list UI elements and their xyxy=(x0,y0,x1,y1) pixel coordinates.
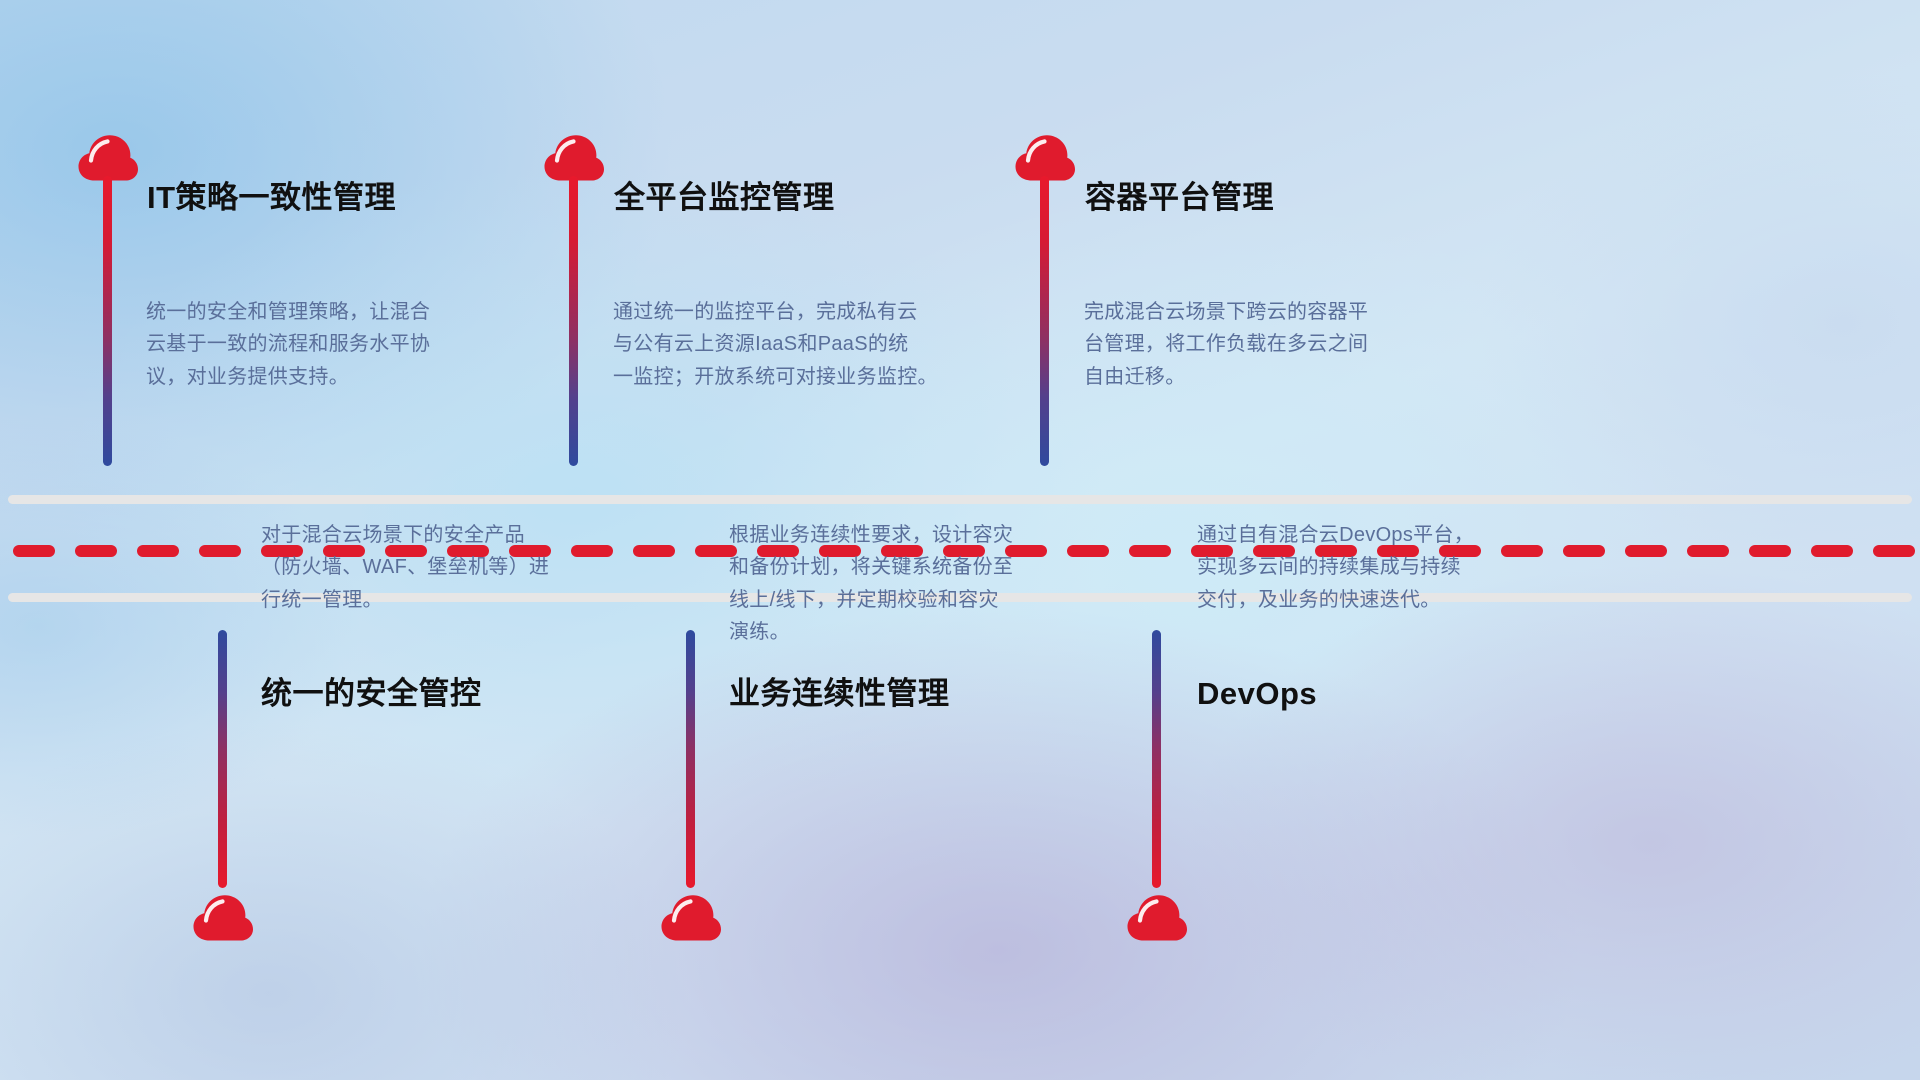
cloud-icon xyxy=(543,133,605,181)
milestone-heading: 统一的安全管控 xyxy=(261,675,482,712)
body-line: 行统一管理。 xyxy=(261,584,549,616)
body-line: 云基于一致的流程和服务水平协 xyxy=(146,328,430,360)
body-line: 对于混合云场景下的安全产品 xyxy=(261,519,549,551)
cloud-icon xyxy=(1126,893,1188,941)
diagram-stage: IT策略一致性管理 统一的安全和管理策略，让混合 云基于一致的流程和服务水平协 … xyxy=(0,0,1920,1080)
milestone-body: 对于混合云场景下的安全产品 （防火墙、WAF、堡垒机等）进 行统一管理。 xyxy=(261,519,549,616)
divider-dash xyxy=(137,545,179,557)
divider-dash xyxy=(571,545,613,557)
divider-dash xyxy=(633,545,675,557)
cloud-icon xyxy=(1014,133,1076,181)
milestone-heading: IT策略一致性管理 xyxy=(147,179,396,216)
divider-dash xyxy=(75,545,117,557)
milestone-body: 完成混合云场景下跨云的容器平 台管理，将工作负载在多云之间 自由迁移。 xyxy=(1084,296,1368,393)
divider-dash xyxy=(1067,545,1109,557)
timeline-stem xyxy=(686,630,695,888)
milestone-body: 通过自有混合云DevOps平台， 实现多云间的持续集成与持续 交付，及业务的快速… xyxy=(1197,519,1474,616)
milestone-body: 根据业务连续性要求，设计容灾 和备份计划，将关键系统备份至 线上/线下，并定期校… xyxy=(729,519,1013,649)
cloud-icon xyxy=(660,893,722,941)
body-line: 台管理，将工作负载在多云之间 xyxy=(1084,328,1368,360)
divider-rail-top xyxy=(8,495,1912,504)
body-line: 交付，及业务的快速迭代。 xyxy=(1197,584,1474,616)
body-line: 根据业务连续性要求，设计容灾 xyxy=(729,519,1013,551)
cloud-icon xyxy=(77,133,139,181)
body-line: 自由迁移。 xyxy=(1084,361,1368,393)
body-line: 议，对业务提供支持。 xyxy=(146,361,430,393)
timeline-stem xyxy=(1040,176,1049,466)
divider-dash xyxy=(1501,545,1543,557)
divider-dash xyxy=(1687,545,1729,557)
body-line: 线上/线下，并定期校验和容灾 xyxy=(729,584,1013,616)
body-line: 一监控；开放系统可对接业务监控。 xyxy=(613,361,938,393)
divider-dash xyxy=(1563,545,1605,557)
milestone-heading: DevOps xyxy=(1197,675,1317,712)
body-line: 演练。 xyxy=(729,616,1013,648)
milestone-heading: 容器平台管理 xyxy=(1085,179,1274,216)
milestone-heading: 业务连续性管理 xyxy=(729,675,950,712)
body-line: 通过自有混合云DevOps平台， xyxy=(1197,519,1474,551)
body-line: 实现多云间的持续集成与持续 xyxy=(1197,551,1474,583)
body-line: 统一的安全和管理策略，让混合 xyxy=(146,296,430,328)
divider-dash xyxy=(199,545,241,557)
milestone-body: 通过统一的监控平台，完成私有云 与公有云上资源IaaS和PaaS的统 一监控；开… xyxy=(613,296,938,393)
milestone-body: 统一的安全和管理策略，让混合 云基于一致的流程和服务水平协 议，对业务提供支持。 xyxy=(146,296,430,393)
timeline-stem xyxy=(1152,630,1161,888)
divider-dash xyxy=(1811,545,1853,557)
timeline-stem xyxy=(569,176,578,466)
milestone-heading: 全平台监控管理 xyxy=(614,179,835,216)
divider-dash xyxy=(1625,545,1667,557)
body-line: 通过统一的监控平台，完成私有云 xyxy=(613,296,938,328)
cloud-icon xyxy=(192,893,254,941)
body-line: 和备份计划，将关键系统备份至 xyxy=(729,551,1013,583)
body-line: （防火墙、WAF、堡垒机等）进 xyxy=(261,551,549,583)
timeline-stem xyxy=(218,630,227,888)
body-line: 与公有云上资源IaaS和PaaS的统 xyxy=(613,328,938,360)
divider-dash xyxy=(1873,545,1915,557)
divider-dash xyxy=(13,545,55,557)
divider-dash xyxy=(1129,545,1171,557)
body-line: 完成混合云场景下跨云的容器平 xyxy=(1084,296,1368,328)
divider-dash xyxy=(1749,545,1791,557)
timeline-stem xyxy=(103,176,112,466)
